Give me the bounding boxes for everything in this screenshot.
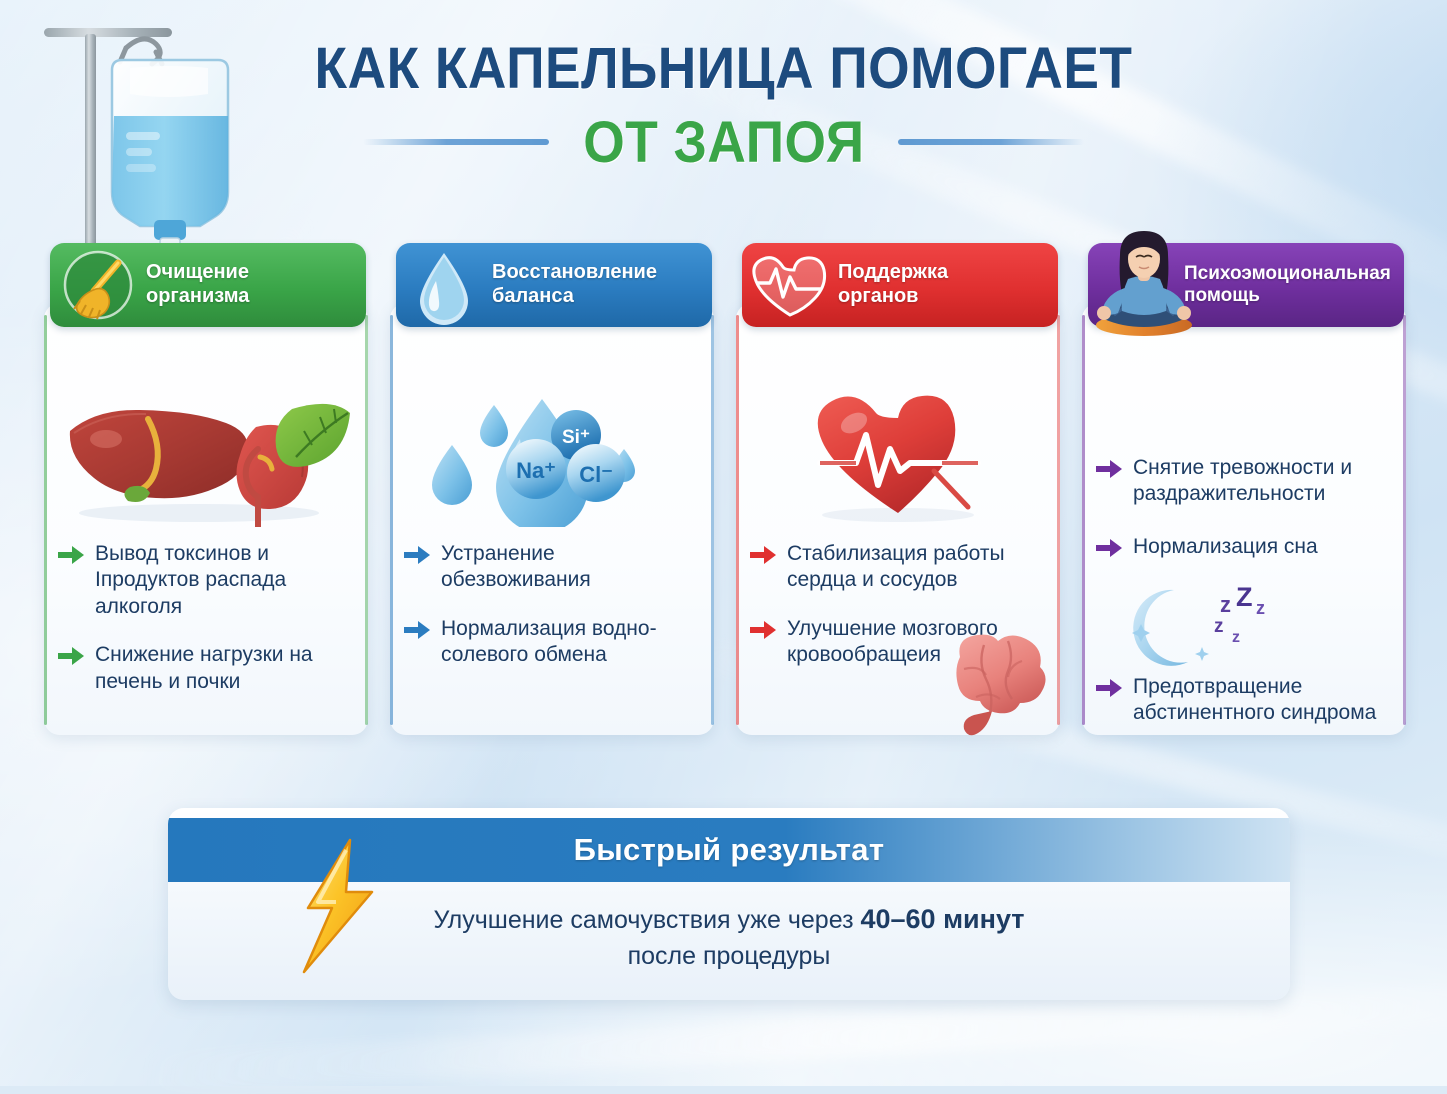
header-line-1: Очищение: [146, 261, 249, 283]
header-line-2: баланса: [492, 285, 574, 307]
list-item-label: Снижение нагрузки на печень и почки: [95, 642, 358, 695]
header-line-1: Психоэмоциональная: [1184, 263, 1391, 284]
card-organs[interactable]: Стабилизация работы сердца и сосудов Улу…: [736, 243, 1060, 735]
water-drop-icon: [396, 243, 492, 327]
list-item-label: Нормализация водно-солевого обмена: [441, 616, 704, 669]
card-body: Si⁺ Na⁺ Cl⁻ Устранение обезвоживания: [390, 303, 714, 735]
lightning-bolt-icon: [292, 836, 384, 976]
water-drops-electrolytes-icon: Si⁺ Na⁺ Cl⁻: [390, 387, 714, 527]
arrow-right-icon: [404, 621, 430, 669]
card-header-balance[interactable]: Восстановление баланса: [396, 243, 712, 327]
card-body: Снятие тревожности и раздражительности Н…: [1082, 303, 1406, 735]
list-item: Предотвращение абстинентного синдрома: [1096, 674, 1396, 727]
page-title: КАК КАПЕЛЬНИЦА ПОМОГАЕТ ОТ ЗАПОЯ: [0, 38, 1447, 176]
brain-icon: [930, 627, 1058, 744]
list-item-label: Устранение обезвоживания: [441, 541, 704, 594]
list-item: Устранение обезвоживания: [404, 541, 704, 594]
list-item: Вывод токсинов и Iпродуктов распада алко…: [58, 541, 358, 620]
fast-result-text-before: Улучшение самочувствия уже через: [433, 906, 860, 934]
list-item: Снятие тревожности и раздражительности: [1096, 455, 1396, 508]
fast-result-title: Быстрый результат: [574, 832, 885, 868]
svg-text:z: z: [1214, 616, 1224, 637]
heart-pulse-icon: [742, 243, 838, 327]
card-header-label: Психоэмоциональная помощь: [1184, 263, 1399, 308]
title-rule-right: [898, 139, 1084, 145]
card-bullets: Снятие тревожности и раздражительности Н…: [1096, 455, 1396, 753]
liver-kidney-icon: [44, 387, 368, 527]
ion-label-na: Na⁺: [516, 458, 556, 483]
list-item-label: Снятие тревожности и раздражительности: [1133, 455, 1396, 508]
list-item: Нормализация сна: [1096, 534, 1396, 562]
heart-pulse-icon: [736, 387, 1060, 527]
card-psycho[interactable]: Снятие тревожности и раздражительности Н…: [1082, 243, 1406, 735]
card-header-label: Поддержка органов: [838, 261, 956, 308]
svg-text:z: z: [1256, 598, 1265, 618]
card-body: Вывод токсинов и Iпродуктов распада алко…: [44, 303, 368, 735]
arrow-right-icon: [58, 546, 84, 620]
title-line-2: ОТ ЗАПОЯ: [583, 109, 864, 176]
svg-text:z: z: [1232, 629, 1240, 646]
header-line-1: Поддержка: [838, 261, 948, 283]
ion-label-si: Si⁺: [562, 427, 590, 448]
title-line-1: КАК КАПЕЛЬНИЦА ПОМОГАЕТ: [58, 38, 1389, 101]
card-header-label: Очищение организма: [146, 261, 257, 308]
ion-label-cl: Cl⁻: [579, 462, 613, 487]
card-bullets: Стабилизация работы сердца и сосудов Улу…: [750, 541, 1050, 691]
card-header-organs[interactable]: Поддержка органов: [742, 243, 1058, 327]
card-bullets: Вывод токсинов и Iпродуктов распада алко…: [58, 541, 358, 717]
list-item: Снижение нагрузки на печень и почки: [58, 642, 358, 695]
title-rule-left: [363, 139, 549, 145]
card-header-cleansing[interactable]: Очищение организма: [50, 243, 366, 327]
title-line-2-row: ОТ ЗАПОЯ: [0, 109, 1447, 176]
moon-sleep-icon: z Z z z z: [1096, 588, 1396, 674]
arrow-right-icon: [750, 621, 776, 669]
card-body: Стабилизация работы сердца и сосудов Улу…: [736, 303, 1060, 735]
benefit-cards: Вывод токсинов и Iпродуктов распада алко…: [44, 243, 1406, 743]
meditating-woman-illustration: [1084, 229, 1204, 346]
card-bullets: Устранение обезвоживания Нормализация во…: [404, 541, 704, 691]
list-item-label: Нормализация сна: [1133, 534, 1318, 562]
header-line-1: Восстановление: [492, 261, 657, 283]
list-item: Стабилизация работы сердца и сосудов: [750, 541, 1050, 594]
header-line-2: организма: [146, 285, 249, 307]
list-item-label: Вывод токсинов и Iпродуктов распада алко…: [95, 541, 358, 620]
card-header-label: Восстановление баланса: [492, 261, 665, 308]
list-item: Нормализация водно-солевого обмена: [404, 616, 704, 669]
fast-result-line2: после процедуры: [628, 942, 831, 970]
card-balance[interactable]: Si⁺ Na⁺ Cl⁻ Устранение обезвоживания: [390, 243, 714, 735]
arrow-right-icon: [58, 647, 84, 695]
broom-icon: [50, 243, 146, 327]
card-cleansing[interactable]: Вывод токсинов и Iпродуктов распада алко…: [44, 243, 368, 735]
arrow-right-icon: [1096, 460, 1122, 508]
arrow-right-icon: [1096, 679, 1122, 727]
arrow-right-icon: [1096, 539, 1122, 562]
fast-result-banner: Быстрый результат Улучшение самочувствия…: [168, 808, 1290, 1000]
fast-result-highlight: 40–60 минут: [860, 904, 1024, 934]
header-line-2: органов: [838, 285, 918, 307]
list-item-label: Стабилизация работы сердца и сосудов: [787, 541, 1050, 594]
arrow-right-icon: [750, 546, 776, 594]
svg-text:z: z: [1220, 592, 1231, 617]
svg-text:Z: Z: [1236, 584, 1253, 612]
arrow-right-icon: [404, 546, 430, 594]
list-item-label: Предотвращение абстинентного синдрома: [1133, 674, 1396, 727]
